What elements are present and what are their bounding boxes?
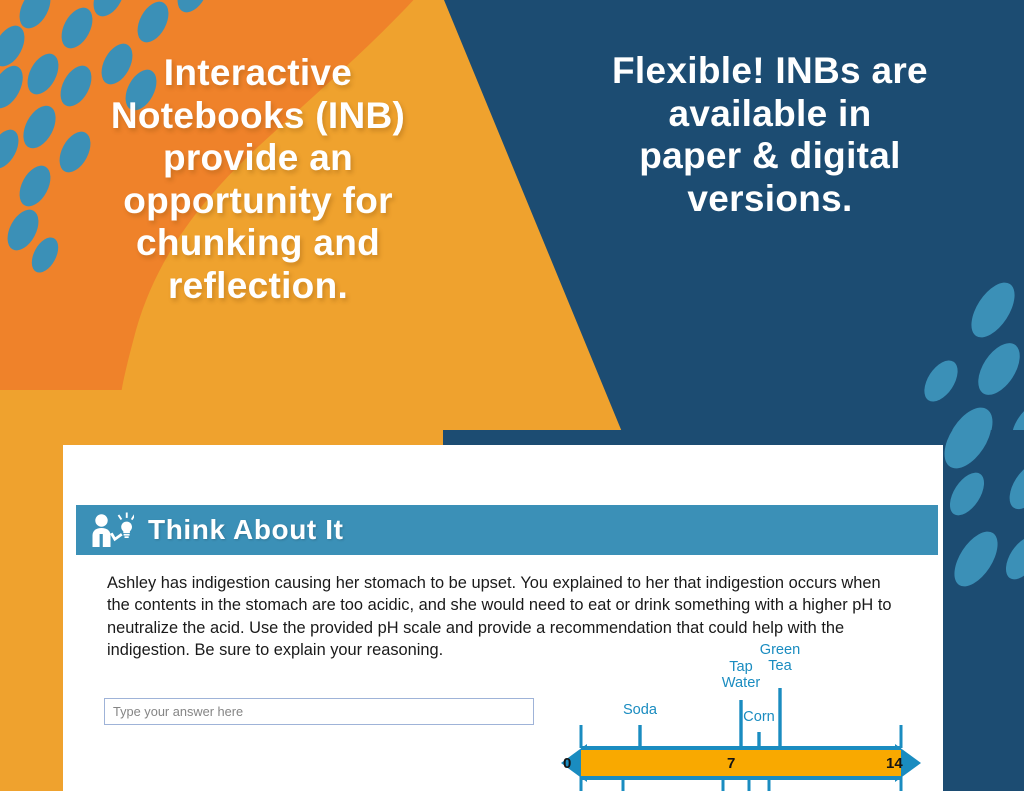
right-headline: Flexible! INBs are available in paper & … [574,50,966,220]
headline-line: paper & digital [574,135,966,178]
ph-scale: 0 7 14 Soda Tap Water Corn Green Tea [541,670,941,791]
ph-min-label: 0 [563,755,571,772]
headline-line: available in [574,93,966,136]
ph-marker-label-corn: Corn [735,710,783,726]
marker-line: Water [712,676,770,692]
ph-marker-label-green-tea: Green Tea [751,643,809,675]
marker-line: Corn [743,709,775,725]
ph-max-label: 14 [886,755,903,772]
ph-marker-label-soda: Soda [614,703,666,719]
person-with-lightbulb-icon [90,512,134,548]
think-about-it-header: Think About It [76,505,938,555]
headline-line: chunking and [80,222,436,265]
navy-top-strip [443,430,943,445]
header-title: Think About It [148,514,344,546]
slide-canvas: Interactive Notebooks (INB) provide an o… [0,0,1024,791]
headline-line: Flexible! INBs are [574,50,966,93]
headline-line: reflection. [80,265,436,308]
ph-mid-label: 7 [727,755,735,772]
headline-line: Notebooks (INB) [80,95,436,138]
orange-left-strip [0,430,63,791]
headline-line: provide an [80,137,436,180]
headline-line: Interactive [80,52,436,95]
headline-line: opportunity for [80,180,436,223]
marker-line: Soda [623,702,657,718]
answer-input[interactable] [104,698,534,725]
worksheet-sheet: Think About It Ashley has indigestion ca… [63,445,943,791]
marker-line: Tea [751,659,809,675]
left-headline: Interactive Notebooks (INB) provide an o… [80,52,436,307]
headline-line: versions. [574,178,966,221]
marker-line: Green [751,643,809,659]
